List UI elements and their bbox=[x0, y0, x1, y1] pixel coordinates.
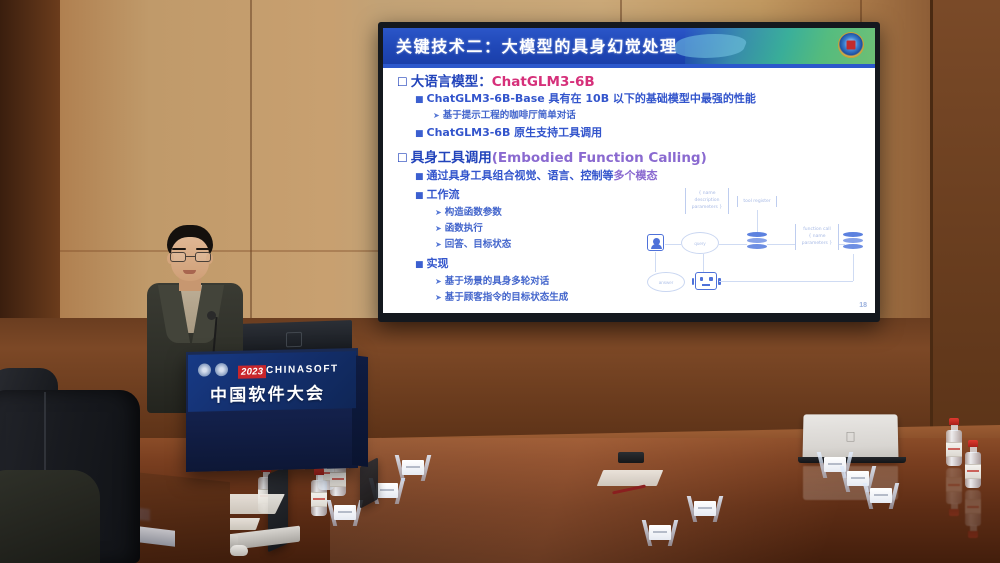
square-open-marker: ☐ bbox=[397, 151, 408, 165]
query-cloud: query bbox=[681, 232, 719, 254]
slide-bullet-1-sub-1: ■ChatGLM3-6B-Base 具有在 10B 以下的基础模型中最强的性能 bbox=[415, 90, 756, 106]
arrow-marker: ➤ bbox=[435, 240, 442, 249]
square-open-marker: ☐ bbox=[397, 75, 408, 89]
square-filled-marker: ■ bbox=[415, 95, 424, 105]
slide-bullet-1-accent: ChatGLM3-6B bbox=[492, 74, 595, 90]
podium-year: 2023 bbox=[238, 365, 266, 379]
presenter-mouth bbox=[183, 270, 196, 274]
document-papers bbox=[597, 470, 663, 486]
diagram-connector bbox=[665, 244, 681, 245]
slide-impl-item-1: ➤基于场景的具身多轮对话 bbox=[435, 273, 549, 287]
slide-bullet-1-sub-2: ■ChatGLM3-6B 原生支持工具调用 bbox=[415, 124, 602, 140]
left-wood-column bbox=[0, 0, 60, 360]
name-card-holder bbox=[330, 500, 360, 526]
square-filled-marker: ■ bbox=[415, 191, 424, 201]
slide-bullet-2-sub-1-accent: 多个模态 bbox=[614, 169, 658, 182]
slide-bullet-1-sub-1-sub-1-text: 基于提示工程的咖啡厅简单对话 bbox=[443, 110, 576, 121]
slide-bullet-1-sub-1-text: ChatGLM3-6B-Base 具有在 10B 以下的基础模型中最强的性能 bbox=[427, 92, 756, 105]
answer-cloud: answer bbox=[647, 272, 685, 292]
database-icon bbox=[747, 232, 767, 252]
water-bottle-reflection bbox=[965, 490, 981, 538]
diagram-connector bbox=[839, 244, 845, 245]
emblem-icon bbox=[215, 363, 228, 376]
slide-body: ☐大语言模型：ChatGLM3-6B ■ChatGLM3-6B-Base 具有在… bbox=[383, 68, 875, 313]
diagram-connector bbox=[853, 254, 854, 281]
microphone-icon bbox=[207, 311, 216, 320]
slide-workflow-step-1: ➤构造函数参数 bbox=[435, 204, 502, 218]
slide-bullet-1-sub-2-text: ChatGLM3-6B 原生支持工具调用 bbox=[427, 126, 603, 139]
university-emblem-icon bbox=[838, 32, 864, 58]
slide-bullet-2-sub-3-text: 实现 bbox=[427, 257, 449, 270]
slide-bullet-2-sub-1: ■通过具身工具组合视觉、语言、控制等多个模态 bbox=[415, 167, 658, 183]
diagram-connector bbox=[757, 210, 758, 232]
user-icon bbox=[647, 234, 664, 251]
slide-title: 关键技术二：大模型的具身幻觉处理 bbox=[396, 33, 678, 57]
name-card-holder bbox=[866, 483, 896, 509]
slide-workflow-step-2-text: 函数执行 bbox=[445, 223, 483, 234]
slide-impl-item-2-text: 基于顾客指令的目标状态生成 bbox=[445, 292, 569, 303]
podium-brand-cn: 中国软件大会 bbox=[210, 379, 325, 407]
slide-bullet-1: ☐大语言模型：ChatGLM3-6B bbox=[397, 70, 595, 90]
computer-mouse bbox=[230, 545, 248, 556]
slide-workflow-step-3-text: 回答、目标状态 bbox=[445, 239, 512, 250]
arrow-marker: ➤ bbox=[435, 293, 442, 302]
presenter-eyebrow bbox=[196, 248, 210, 250]
glasses-icon bbox=[170, 252, 211, 262]
water-bottle bbox=[311, 468, 327, 516]
arrow-marker: ➤ bbox=[435, 277, 442, 286]
diagram-connector bbox=[719, 244, 747, 245]
square-filled-marker: ■ bbox=[415, 172, 424, 182]
square-filled-marker: ■ bbox=[415, 129, 424, 139]
presentation-slide: 关键技术二：大模型的具身幻觉处理 ☐大语言模型：ChatGLM3-6B ■Cha… bbox=[383, 28, 875, 313]
conference-room-scene: 关键技术二：大模型的具身幻觉处理 ☐大语言模型：ChatGLM3-6B ■Cha… bbox=[0, 0, 1000, 563]
water-bottle bbox=[946, 418, 962, 466]
diagram-function-call-box: function call { name parameters } bbox=[795, 224, 839, 250]
slide-bullet-2-sub-1-text: 通过具身工具组合视觉、语言、控制等 bbox=[427, 169, 614, 182]
slide-bullet-1-sub-1-sub-1: ➤基于提示工程的咖啡厅简单对话 bbox=[433, 107, 576, 121]
robot-icon bbox=[695, 272, 717, 290]
slide-workflow-step-1-text: 构造函数参数 bbox=[445, 207, 502, 218]
slide-bullet-2-sub-2-text: 工作流 bbox=[427, 188, 460, 201]
podium-sign: 2023 CHINASOFT 中国软件大会 bbox=[188, 351, 356, 412]
wall-display: 关键技术二：大模型的具身幻觉处理 ☐大语言模型：ChatGLM3-6B ■Cha… bbox=[378, 22, 880, 322]
smartphone bbox=[618, 452, 644, 463]
name-card-holder bbox=[398, 455, 428, 481]
apple-logo-icon:  bbox=[844, 430, 857, 445]
door-frame bbox=[930, 0, 1000, 440]
water-bottle bbox=[965, 440, 981, 488]
database-icon bbox=[843, 232, 863, 252]
slide-bullet-2-accent: (Embodied Function Calling) bbox=[492, 150, 707, 166]
jacket-on-chair bbox=[0, 470, 100, 563]
slide-bullet-2-sub-3: ■实现 bbox=[415, 255, 449, 271]
name-card-holder bbox=[690, 496, 720, 522]
slide-bullet-2: ☐具身工具调用(Embodied Function Calling) bbox=[397, 146, 707, 166]
slide-page-number: 18 bbox=[859, 302, 867, 309]
slide-bullet-2-text: 具身工具调用 bbox=[411, 150, 492, 166]
slide-impl-item-1-text: 基于场景的具身多轮对话 bbox=[445, 276, 550, 287]
macbook-base bbox=[798, 457, 906, 463]
square-filled-marker: ■ bbox=[415, 260, 424, 270]
presenter-eyebrow bbox=[172, 248, 186, 250]
diagram-connector bbox=[703, 254, 704, 272]
water-bottle-reflection bbox=[946, 468, 962, 516]
diagram-connector bbox=[719, 281, 853, 282]
diagram-connector bbox=[655, 252, 656, 272]
slide-bullet-2-sub-2: ■工作流 bbox=[415, 186, 460, 202]
podium-brand-en: CHINASOFT bbox=[266, 363, 339, 376]
diagram-tool-schema-box: { name description parameters } bbox=[685, 188, 729, 214]
emblem-icon bbox=[198, 363, 211, 376]
slide-impl-item-2: ➤基于顾客指令的目标状态生成 bbox=[435, 289, 568, 303]
diagram-tool-register-box: tool register bbox=[737, 196, 777, 207]
diagram-connector bbox=[767, 244, 795, 245]
name-card-holder bbox=[645, 520, 675, 546]
arrow-marker: ➤ bbox=[433, 111, 440, 120]
function-calling-diagram: { name description parameters } tool reg… bbox=[637, 188, 869, 300]
arrow-marker: ➤ bbox=[435, 208, 442, 217]
slide-workflow-step-3: ➤回答、目标状态 bbox=[435, 236, 511, 250]
slide-workflow-step-2: ➤函数执行 bbox=[435, 220, 483, 234]
arrow-marker: ➤ bbox=[435, 224, 442, 233]
slide-bullet-1-text: 大语言模型： bbox=[411, 74, 492, 90]
